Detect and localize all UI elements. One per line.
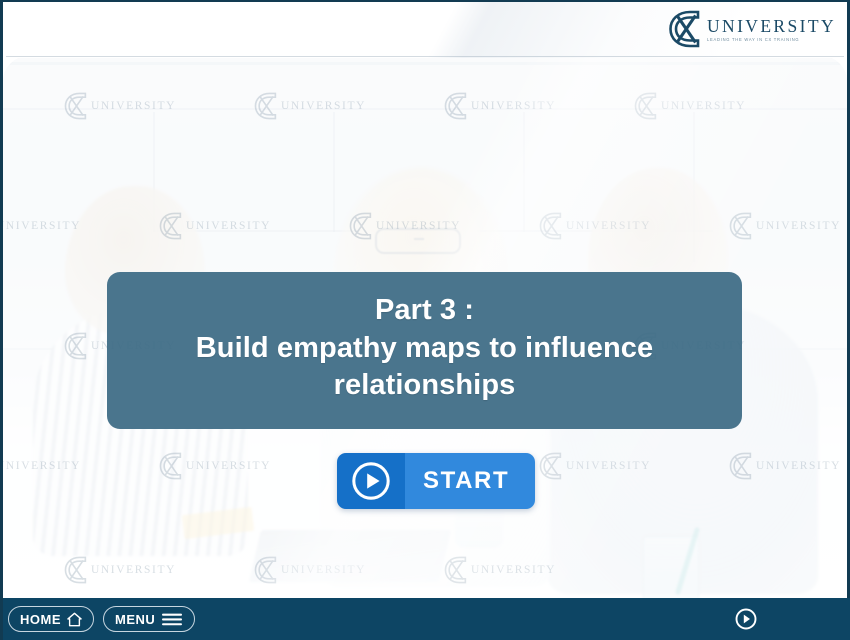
start-label: START — [423, 467, 509, 495]
start-icon-container[interactable] — [337, 453, 405, 509]
bottom-navigation-bar: HOME MENU — [0, 598, 850, 640]
home-icon — [67, 612, 82, 627]
brand-name: UNIVERSITY — [707, 18, 836, 36]
laptop — [249, 530, 451, 582]
start-label-container[interactable]: START — [405, 453, 535, 509]
cabinet-line — [523, 112, 525, 232]
cabinet-line — [3, 62, 847, 65]
next-button[interactable] — [734, 607, 758, 631]
play-circle-icon — [734, 607, 758, 631]
course-slide: UNIVERSITY UNIVERSITY UNIVERSITY UNIVERS… — [0, 0, 850, 640]
cabinet-line — [333, 112, 335, 232]
frame-edge-top — [0, 0, 850, 2]
play-circle-icon — [350, 460, 392, 502]
menu-label: MENU — [115, 613, 155, 626]
menu-button[interactable]: MENU — [103, 606, 195, 632]
glasses-icon — [375, 228, 461, 254]
home-button[interactable]: HOME — [8, 606, 94, 632]
title-panel: Part 3 : Build empathy maps to influence… — [107, 272, 742, 429]
start-button[interactable]: START — [337, 453, 535, 509]
brand-tagline: LEADING THE WAY IN CX TRAINING — [707, 38, 836, 42]
page-title: Part 3 : Build empathy maps to influence… — [133, 292, 716, 405]
xc-monogram-icon — [666, 10, 708, 48]
frame-edge-left — [0, 0, 3, 640]
hamburger-icon — [161, 612, 183, 627]
home-label: HOME — [20, 613, 61, 626]
brand-logo: UNIVERSITY LEADING THE WAY IN CX TRAININ… — [666, 9, 836, 49]
header-divider — [6, 56, 844, 57]
cabinet-line — [3, 108, 847, 110]
brand-text-block: UNIVERSITY LEADING THE WAY IN CX TRAININ… — [707, 16, 836, 42]
